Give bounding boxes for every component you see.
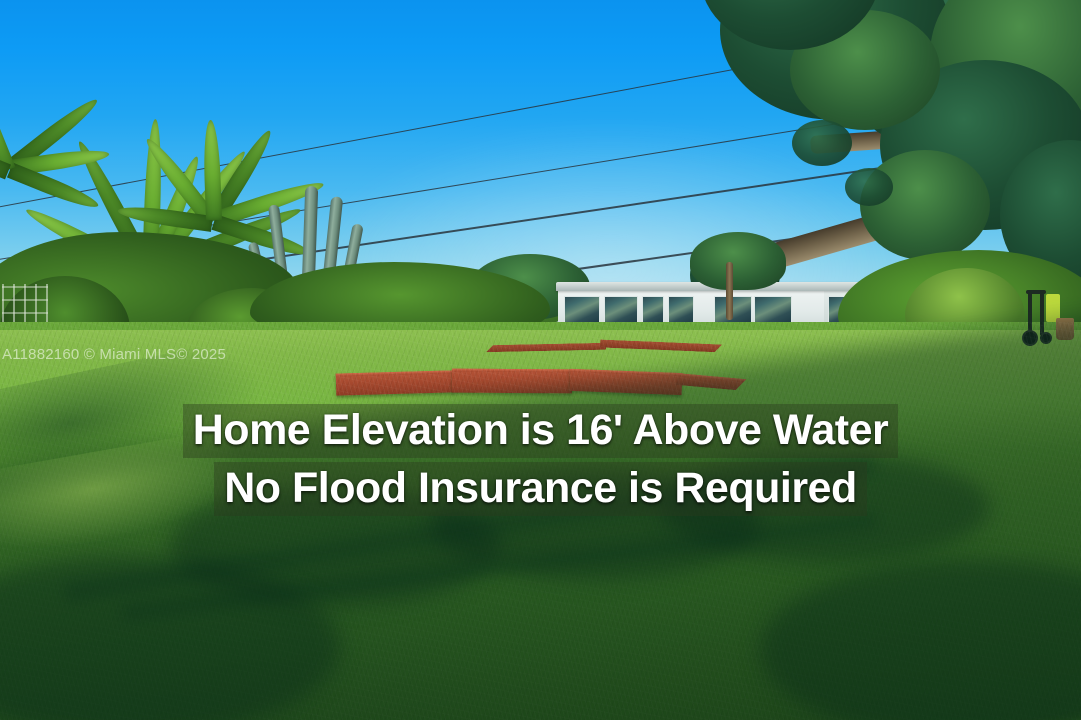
mls-watermark: A11882160 © Miami MLS© 2025 (2, 346, 226, 363)
tree-leaf-tuft (792, 120, 852, 166)
house-window (668, 296, 694, 324)
right-palm-crown (690, 232, 786, 290)
house-window (714, 296, 752, 324)
house-window (754, 296, 792, 324)
house-window (564, 296, 600, 324)
house-window (604, 296, 638, 324)
right-palm-trunk (726, 262, 733, 320)
tree-leaf-tuft (845, 168, 893, 206)
hand-truck-handle (1026, 290, 1046, 294)
tree-canopy (860, 150, 990, 260)
listing-photo: A11882160 © Miami MLS© 2025 Home Elevati… (0, 0, 1081, 720)
house-window (642, 296, 664, 324)
